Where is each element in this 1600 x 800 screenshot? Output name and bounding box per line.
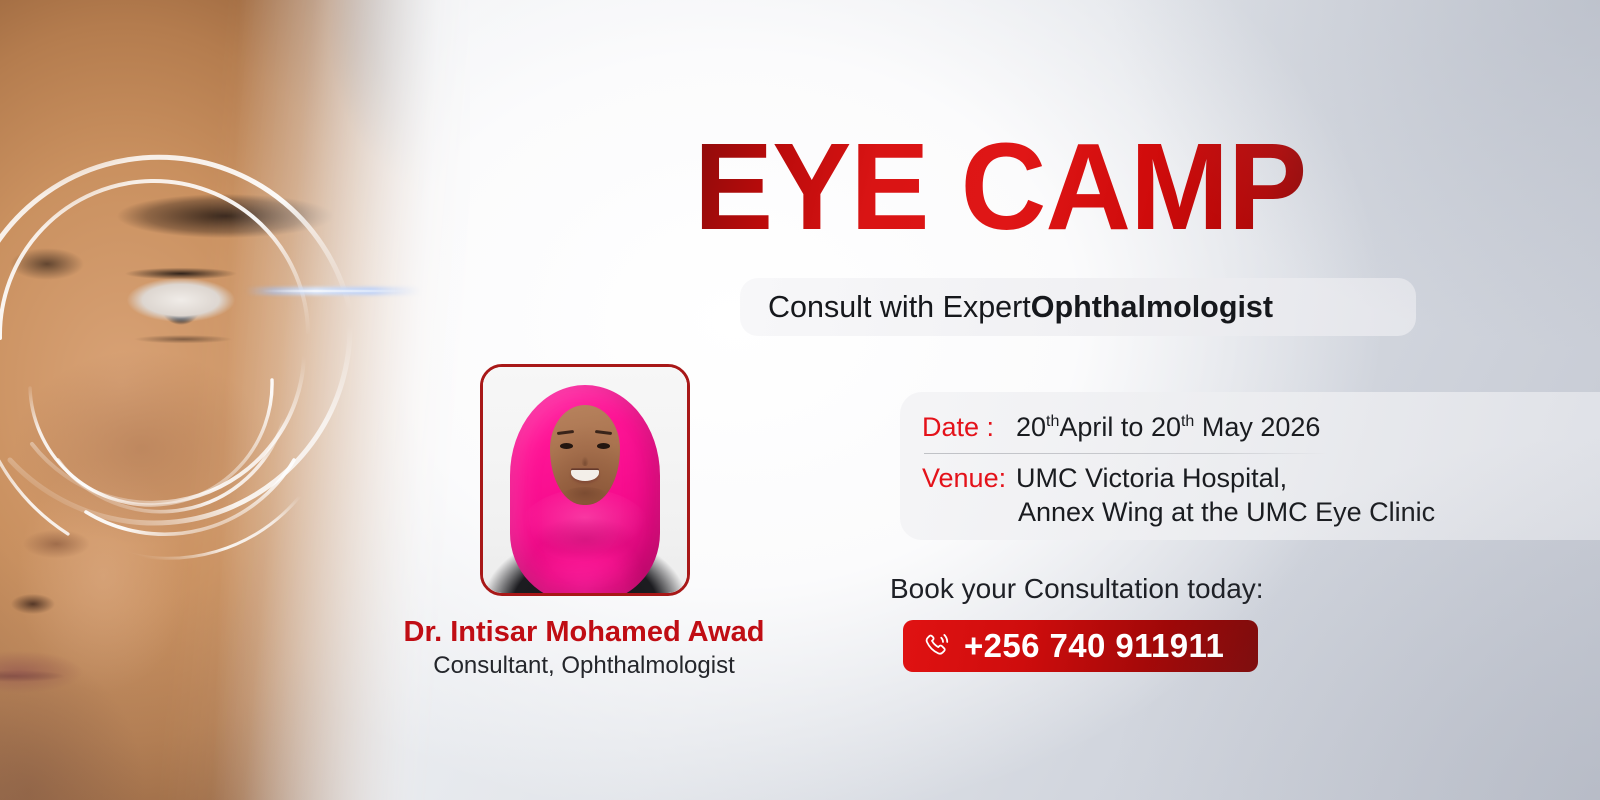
booking-prompt: Book your Consultation today: — [890, 573, 1264, 605]
venue-value-line2: Annex Wing at the UMC Eye Clinic — [1018, 497, 1600, 529]
event-info-card: Date : 20thApril to 20th May 2026 Venue:… — [900, 392, 1600, 540]
date-month-end: May 2026 — [1194, 412, 1320, 442]
portrait-eye-right — [597, 443, 610, 449]
laser-beam-core-icon — [262, 290, 412, 292]
portrait-eye-left — [560, 443, 573, 449]
date-month-start: April to — [1059, 412, 1151, 442]
info-divider — [924, 453, 1328, 454]
venue-label: Venue: — [922, 463, 1016, 495]
doctor-name: Dr. Intisar Mohamed Awad — [0, 616, 1168, 649]
date-row: Date : 20thApril to 20th May 2026 — [922, 412, 1600, 444]
poster-canvas: EYE CAMP Consult with Expert Ophthalmolo… — [0, 0, 1600, 800]
subtitle-bold: Ophthalmologist — [1031, 290, 1273, 325]
venue-row: Venue: UMC Victoria Hospital, — [922, 463, 1600, 495]
doctor-portrait-frame — [480, 364, 690, 596]
doctor-title: Consultant, Ophthalmologist — [0, 652, 1168, 680]
date-value: 20thApril to 20th May 2026 — [1016, 412, 1320, 444]
date-ordinal-end: th — [1181, 413, 1194, 430]
subtitle-pill: Consult with Expert Ophthalmologist — [740, 278, 1416, 336]
date-ordinal-start: th — [1046, 413, 1059, 430]
subtitle-regular: Consult with Expert — [768, 290, 1031, 325]
eye-scan-rings-icon — [0, 88, 440, 648]
date-day-end: 20 — [1151, 412, 1181, 442]
date-label: Date : — [922, 412, 1016, 444]
portrait-nose — [581, 453, 588, 467]
doctor-portrait-image — [483, 367, 687, 593]
portrait-hijab-fold-lower — [528, 516, 642, 575]
date-day-start: 20 — [1016, 412, 1046, 442]
hero-photo — [0, 0, 470, 800]
page-title: EYE CAMP — [694, 128, 1306, 247]
venue-value-line1: UMC Victoria Hospital, — [1016, 463, 1287, 495]
